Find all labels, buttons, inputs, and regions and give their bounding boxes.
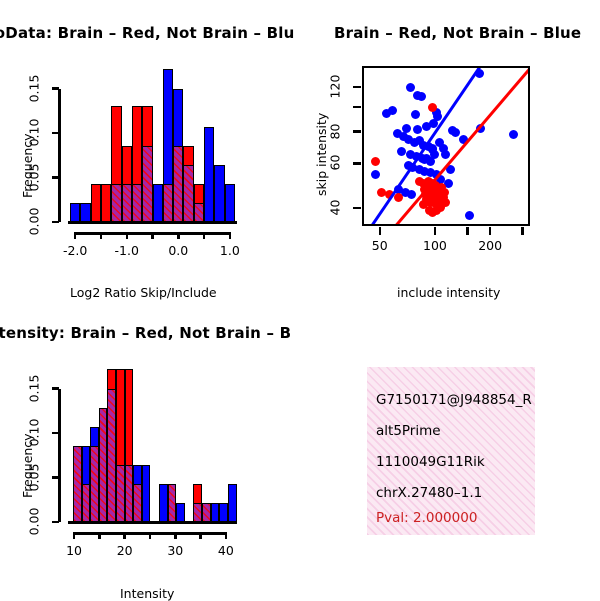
intensity-histogram-xlabel: Intensity [120, 586, 174, 601]
axis-tick-label: 10 [49, 543, 99, 558]
axis-tick [100, 232, 103, 239]
histogram-bar [91, 184, 101, 222]
scatter-point [451, 128, 460, 137]
axis-tick [379, 227, 382, 235]
scatter-point [417, 92, 426, 101]
ratio-histogram-panel: RatioData: Brain – Red, Not Brain – Blu … [0, 0, 300, 310]
scatter-point [428, 145, 437, 154]
scatter-point [382, 109, 391, 118]
gene-name-text: 1110049G11Rik [376, 454, 485, 470]
histogram-bar [153, 184, 163, 222]
axis-tick [149, 532, 152, 539]
axis-tick [353, 162, 361, 165]
axis-tick-label: -1.0 [102, 243, 152, 258]
axis-tick-label: 0.00 [27, 502, 42, 542]
scatter-point [413, 125, 422, 134]
axis-tick [123, 532, 126, 539]
histogram-bar-overlap [168, 484, 177, 522]
histogram-bar-overlap [107, 389, 116, 522]
histogram-bar [225, 184, 235, 222]
axis-tick-label: 0.15 [27, 368, 42, 408]
scatter-point [428, 103, 437, 112]
axis-tick [353, 207, 361, 210]
axis-tick [52, 132, 59, 135]
histogram-bar-overlap [122, 184, 132, 222]
axis-tick [126, 232, 129, 239]
histogram-bar-overlap [202, 503, 211, 522]
axis-tick [52, 521, 59, 524]
histogram-bar [159, 484, 168, 522]
axis-tick [177, 232, 180, 239]
axis-tick [489, 227, 492, 235]
axis-tick-label: 0.0 [153, 243, 203, 258]
axis-tick-label: 200 [465, 238, 515, 253]
axis-tick [466, 227, 469, 235]
ratio-histogram-title: RatioData: Brain – Red, Not Brain – Blu [0, 24, 295, 42]
histogram-bar-overlap [132, 184, 142, 222]
axis-tick [52, 221, 59, 224]
axis-tick [353, 106, 361, 109]
axis-tick-label: 0.05 [27, 157, 42, 197]
probe-id-text: G7150171@J948854_R [376, 392, 532, 408]
axis-tick-label: 120 [328, 66, 343, 106]
intensity-histogram-plot-area [70, 362, 235, 522]
axis-tick [52, 387, 59, 390]
axis-tick-label: 40 [201, 543, 251, 558]
histogram-bar-overlap [142, 146, 152, 222]
intensity-histogram-title: ne Itensity: Brain – Red, Not Brain – B [0, 324, 291, 342]
axis-tick [229, 232, 232, 239]
axis-tick-label: 40 [328, 188, 343, 228]
axis-tick [174, 532, 177, 539]
annotation-info-panel: G7150171@J948854_R alt5Prime 1110049G11R… [367, 367, 535, 535]
locus-text: chrX.27480–1.1 [376, 485, 482, 501]
histogram-bar [214, 165, 224, 222]
histogram-bar-overlap [111, 184, 121, 222]
histogram-bar [228, 484, 237, 522]
axis-tick-label: 0.05 [27, 457, 42, 497]
histogram-bar [101, 184, 111, 222]
histogram-bar-overlap [99, 408, 108, 522]
histogram-bar-overlap [82, 484, 91, 522]
axis-tick [521, 227, 524, 235]
scatter-panel: Brain – Red, Not Brain – Blue skip inten… [300, 0, 600, 310]
scatter-point [411, 110, 420, 119]
axis-tick [225, 532, 228, 539]
scatter-point [509, 130, 518, 139]
axis-tick [52, 176, 59, 179]
scatter-point [371, 157, 380, 166]
axis-tick [151, 232, 154, 239]
histogram-bar [142, 465, 151, 522]
intensity-histogram-panel: ne Itensity: Brain – Red, Not Brain – B … [0, 300, 300, 600]
ratio-histogram-xlabel: Log2 Ratio Skip/Include [70, 285, 217, 300]
scatter-point [397, 147, 406, 156]
axis-tick [68, 521, 237, 524]
histogram-bar-overlap [194, 203, 204, 222]
axis-tick-label: 30 [150, 543, 200, 558]
axis-tick-label: 0.10 [27, 113, 42, 153]
histogram-bar-overlap [90, 446, 99, 522]
axis-tick [58, 389, 61, 522]
scatter-point [465, 211, 474, 220]
scatter-xlabel: include intensity [397, 285, 500, 300]
histogram-bar [219, 503, 228, 522]
histogram-bar-overlap [133, 484, 142, 522]
axis-tick-label: 0.00 [27, 202, 42, 242]
axis-tick-label: 100 [410, 238, 460, 253]
scatter-point [436, 203, 445, 212]
axis-tick-label: -2.0 [50, 243, 100, 258]
axis-tick-label: 0.15 [27, 68, 42, 108]
scatter-point [422, 122, 431, 131]
axis-tick [353, 86, 361, 89]
histogram-bar-overlap [116, 465, 125, 522]
axis-tick [52, 432, 59, 435]
axis-tick [52, 476, 59, 479]
histogram-bar [211, 503, 220, 522]
histogram-bar-overlap [125, 465, 134, 522]
scatter-title: Brain – Red, Not Brain – Blue [334, 24, 581, 42]
histogram-bar [204, 127, 214, 222]
histogram-bar-overlap [173, 146, 183, 222]
histogram-bar-overlap [193, 503, 202, 522]
axis-tick [98, 532, 101, 539]
axis-tick [58, 89, 61, 222]
histogram-bar-overlap [183, 165, 193, 222]
axis-tick [68, 221, 237, 224]
axis-tick [203, 232, 206, 239]
axis-tick-label: 20 [100, 543, 150, 558]
scatter-point [371, 170, 380, 179]
scatter-point [422, 154, 431, 163]
pvalue-text: Pval: 2.000000 [376, 510, 477, 526]
axis-tick [74, 232, 77, 239]
scatter-point [441, 150, 450, 159]
scatter-point [407, 190, 416, 199]
axis-tick-label: 50 [355, 238, 405, 253]
histogram-bar [70, 203, 80, 222]
event-type-text: alt5Prime [376, 423, 441, 439]
axis-tick [52, 87, 59, 90]
scatter-plot-frame [362, 66, 530, 226]
axis-tick-label: 80 [328, 111, 343, 151]
axis-tick [434, 227, 437, 235]
axis-tick [353, 130, 361, 133]
axis-tick [73, 532, 76, 539]
histogram-bar-overlap [163, 184, 173, 222]
histogram-bar [80, 203, 90, 222]
histogram-bar [176, 503, 185, 522]
histogram-bar-overlap [73, 446, 82, 522]
axis-tick-label: 1.0 [205, 243, 255, 258]
axis-tick [199, 532, 202, 539]
axis-tick-label: 0.10 [27, 413, 42, 453]
ratio-histogram-plot-area [70, 62, 235, 222]
